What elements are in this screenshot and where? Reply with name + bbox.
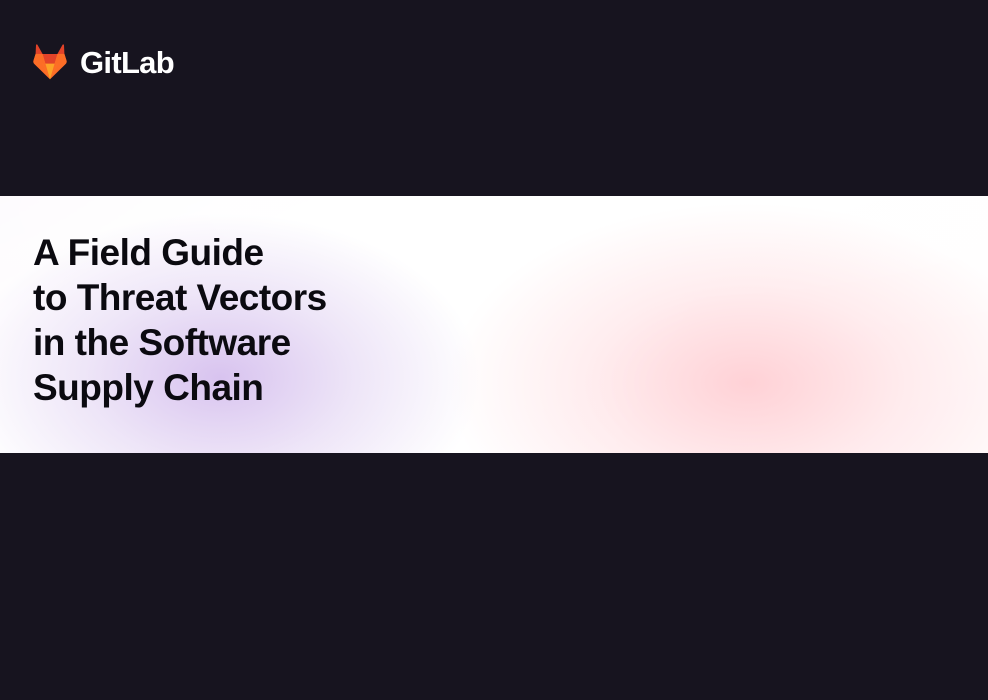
gitlab-wordmark: GitLab xyxy=(80,47,174,78)
title-line-4: Supply Chain xyxy=(33,365,453,410)
title-line-2: to Threat Vectors xyxy=(33,275,453,320)
gitlab-fox-logo-icon xyxy=(31,44,69,80)
page-title: A Field Guide to Threat Vectors in the S… xyxy=(33,230,453,410)
title-line-1: A Field Guide xyxy=(33,230,453,275)
page-header: GitLab xyxy=(0,0,988,196)
gitlab-brand-lockup[interactable]: GitLab xyxy=(31,40,174,84)
banner-pink-tint xyxy=(448,203,988,453)
title-line-3: in the Software xyxy=(33,320,453,365)
page-footer-area xyxy=(0,453,988,700)
page-root: GitLab A Field Guide to Threat Vectors i… xyxy=(0,0,988,700)
hero-banner: A Field Guide to Threat Vectors in the S… xyxy=(0,196,988,453)
